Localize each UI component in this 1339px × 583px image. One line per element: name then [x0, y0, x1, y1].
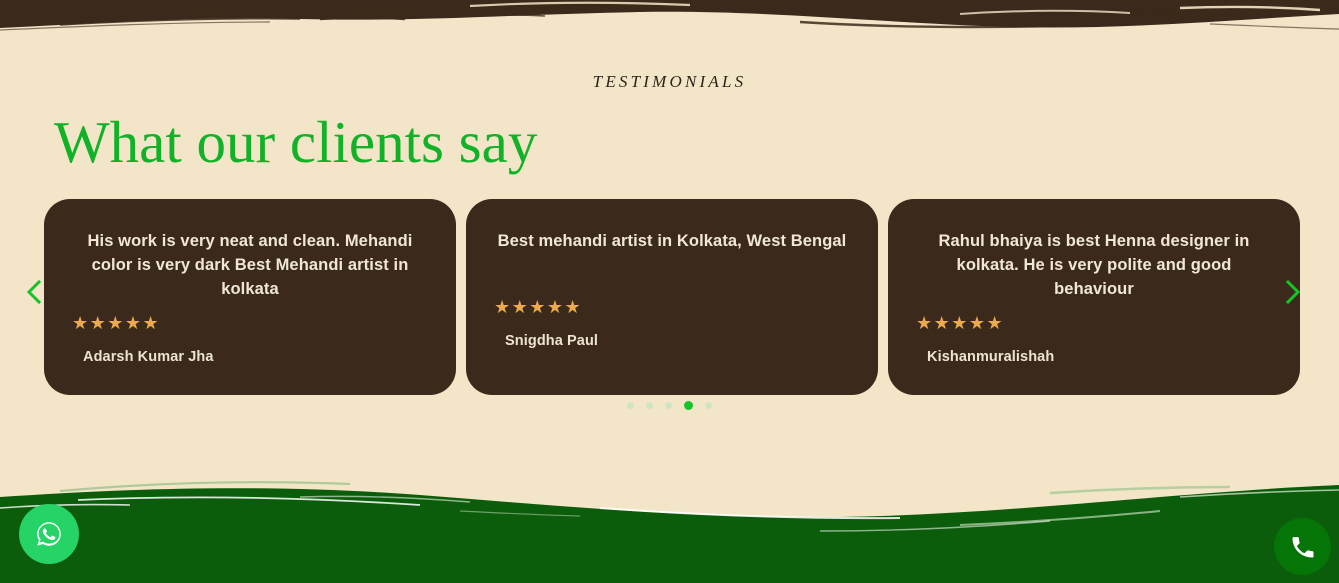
- pagination-dot[interactable]: [665, 402, 672, 409]
- testimonial-author: Adarsh Kumar Jha: [72, 349, 214, 365]
- call-float-button[interactable]: [1274, 518, 1331, 575]
- whatsapp-icon: [33, 518, 65, 550]
- testimonial-carousel: His work is very neat and clean. Mehandi…: [0, 199, 1339, 395]
- chevron-right-icon: [1284, 279, 1302, 305]
- testimonial-quote: Rahul bhaiya is best Henna designer in k…: [916, 229, 1272, 301]
- testimonial-author: Snigdha Paul: [494, 333, 598, 349]
- testimonial-card[interactable]: Best mehandi artist in Kolkata, West Ben…: [466, 199, 878, 395]
- pagination-dot[interactable]: [627, 402, 634, 409]
- phone-icon: [1289, 533, 1317, 561]
- carousel-next-button[interactable]: [1278, 276, 1308, 308]
- testimonial-quote: His work is very neat and clean. Mehandi…: [72, 229, 428, 301]
- whatsapp-float-button[interactable]: [19, 504, 79, 564]
- top-brush-decoration: [0, 0, 1339, 46]
- testimonial-card[interactable]: Rahul bhaiya is best Henna designer in k…: [888, 199, 1300, 395]
- testimonial-author: Kishanmuralishah: [916, 349, 1054, 365]
- testimonial-quote: Best mehandi artist in Kolkata, West Ben…: [494, 229, 850, 253]
- bottom-wave-decoration: [0, 453, 1339, 583]
- section-eyebrow: TESTIMONIALS: [0, 72, 1339, 92]
- chevron-left-icon: [25, 279, 43, 305]
- rating-stars: ★★★★★: [72, 313, 214, 333]
- pagination-dot[interactable]: [646, 402, 653, 409]
- testimonial-meta: ★★★★★ Snigdha Paul: [494, 297, 598, 349]
- page-title: What our clients say: [54, 108, 537, 176]
- testimonial-meta: ★★★★★ Kishanmuralishah: [916, 313, 1054, 365]
- rating-stars: ★★★★★: [494, 297, 598, 317]
- testimonial-meta: ★★★★★ Adarsh Kumar Jha: [72, 313, 214, 365]
- testimonial-card[interactable]: His work is very neat and clean. Mehandi…: [44, 199, 456, 395]
- carousel-pagination: [0, 401, 1339, 410]
- pagination-dot[interactable]: [705, 402, 712, 409]
- testimonial-card-list: His work is very neat and clean. Mehandi…: [44, 199, 1300, 395]
- rating-stars: ★★★★★: [916, 313, 1054, 333]
- testimonials-section: TESTIMONIALS What our clients say His wo…: [0, 0, 1339, 583]
- carousel-prev-button[interactable]: [19, 276, 49, 308]
- pagination-dot-active[interactable]: [684, 401, 693, 410]
